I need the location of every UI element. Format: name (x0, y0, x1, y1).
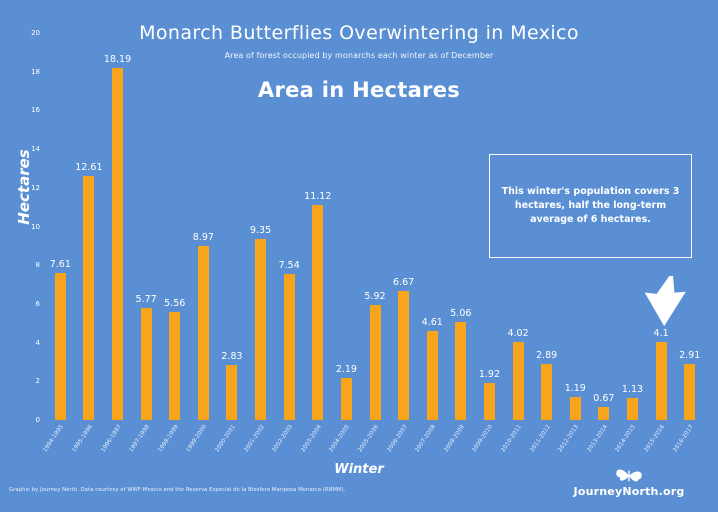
bar-value-label: 4.02 (507, 328, 528, 339)
bar-slot: 2.832000-2001 (218, 33, 247, 420)
bar-value-label: 12.61 (75, 162, 102, 173)
y-axis-tick: 20 (31, 29, 40, 37)
bar-slot: 4.612007-2008 (418, 33, 447, 420)
credit-text: Graphic by Journey North. Data courtesy … (9, 487, 345, 493)
x-axis-tick: 2010-2011 (500, 424, 523, 453)
bar-value-label: 11.12 (304, 191, 331, 202)
bar-value-label: 6.67 (393, 277, 414, 288)
bar-value-label: 1.92 (479, 369, 500, 380)
bar-slot: 11.122003-2004 (303, 33, 332, 420)
y-axis-tick: 16 (31, 106, 40, 114)
bar-value-label: 2.83 (221, 351, 242, 362)
bar[interactable]: 4.02 (513, 342, 524, 420)
x-axis-tick: 2011-2012 (529, 424, 552, 453)
y-axis-tick: 10 (31, 223, 40, 231)
x-axis-tick: 2001-2002 (243, 424, 266, 453)
bar-slot: 6.672006-2007 (389, 33, 418, 420)
brand-name: JourneyNorth.org (554, 485, 704, 498)
y-axis-tick: 14 (31, 145, 40, 153)
bar-slot: 5.062008-2009 (447, 33, 476, 420)
bar-slot: 12.611995-1996 (75, 33, 104, 420)
bar[interactable]: 6.67 (398, 291, 409, 420)
x-axis-tick: 2000-2001 (214, 424, 237, 453)
x-axis-tick: 2003-2004 (300, 424, 323, 453)
bar[interactable]: 2.89 (541, 364, 552, 420)
bar-value-label: 8.97 (193, 232, 214, 243)
bar-slot: 5.771997-1998 (132, 33, 161, 420)
x-axis-tick: 2012-2013 (558, 424, 581, 453)
bar-value-label: 2.91 (679, 350, 700, 361)
bar-value-label: 1.13 (622, 384, 643, 395)
callout-text: This winter's population covers 3 hectar… (490, 185, 691, 226)
bar-value-label: 0.67 (593, 393, 614, 404)
bar-slot: 5.922005-2006 (361, 33, 390, 420)
bar[interactable]: 5.92 (370, 305, 381, 420)
bar-value-label: 7.61 (50, 259, 71, 270)
x-axis-tick: 2002-2003 (272, 424, 295, 453)
x-axis-tick: 1995-1996 (71, 424, 94, 453)
y-axis-tick: 4 (36, 339, 40, 347)
down-right-arrow-icon (634, 276, 694, 338)
bar[interactable]: 2.19 (341, 378, 352, 420)
bar-value-label: 1.19 (565, 383, 586, 394)
bar-value-label: 7.54 (279, 260, 300, 271)
y-axis-tick: 2 (36, 377, 40, 385)
bar[interactable]: 4.1 (656, 342, 667, 420)
x-axis-tick: 1996-1997 (100, 424, 123, 453)
brand-logo[interactable]: JourneyNorth.org (554, 466, 704, 498)
bar-value-label: 2.19 (336, 364, 357, 375)
chart-canvas: Monarch Butterflies Overwintering in Mex… (0, 0, 718, 512)
x-axis-tick: 2014-2015 (615, 424, 638, 453)
x-axis-tick: 2009-2010 (472, 424, 495, 453)
x-axis-tick: 1997-1998 (129, 424, 152, 453)
bar-slot: 8.971999-2000 (189, 33, 218, 420)
bar-slot: 2.192004-2005 (332, 33, 361, 420)
butterfly-icon (554, 466, 704, 486)
bar[interactable]: 0.67 (598, 407, 609, 420)
bar[interactable]: 7.54 (284, 274, 295, 420)
y-axis-tick: 6 (36, 300, 40, 308)
bar[interactable]: 2.91 (684, 364, 695, 420)
x-axis-tick: 2016-2017 (672, 424, 695, 453)
x-axis-tick: 2013-2014 (586, 424, 609, 453)
bar-slot: 9.352001-2002 (246, 33, 275, 420)
bar-value-label: 5.92 (364, 291, 385, 302)
bar-value-label: 18.19 (104, 54, 131, 65)
bar-value-label: 9.35 (250, 225, 271, 236)
x-axis-tick: 1999-2000 (186, 424, 209, 453)
bar-value-label: 5.77 (136, 294, 157, 305)
bar[interactable]: 2.83 (226, 365, 237, 420)
bar[interactable]: 1.19 (570, 397, 581, 420)
bar-value-label: 5.06 (450, 308, 471, 319)
bar[interactable]: 18.19 (112, 68, 123, 420)
bar[interactable]: 1.92 (484, 383, 495, 420)
bar[interactable]: 8.97 (198, 246, 209, 420)
bar[interactable]: 11.12 (312, 205, 323, 420)
x-axis-tick: 2004-2005 (329, 424, 352, 453)
bar[interactable]: 1.13 (627, 398, 638, 420)
bar-slot: 5.561998-1999 (160, 33, 189, 420)
y-axis-tick: 18 (31, 68, 40, 76)
bar[interactable]: 9.35 (255, 239, 266, 420)
bar-slot: 7.542002-2003 (275, 33, 304, 420)
y-axis-tick: 8 (36, 261, 40, 269)
bar[interactable]: 5.77 (141, 308, 152, 420)
x-axis-tick: 1994-1995 (43, 424, 66, 453)
bar[interactable]: 12.61 (83, 176, 94, 420)
x-axis-tick: 2005-2006 (357, 424, 380, 453)
x-axis-tick: 2007-2008 (415, 424, 438, 453)
bar-slot: 18.191996-1997 (103, 33, 132, 420)
bar[interactable]: 7.61 (55, 273, 66, 420)
bar[interactable]: 5.56 (169, 312, 180, 420)
bar-value-label: 5.56 (164, 298, 185, 309)
callout-box: This winter's population covers 3 hectar… (489, 154, 692, 258)
y-axis-tick: 12 (31, 184, 40, 192)
bar-value-label: 2.89 (536, 350, 557, 361)
bar[interactable]: 5.06 (455, 322, 466, 420)
bar-value-label: 4.61 (422, 317, 443, 328)
x-axis-tick: 1998-1999 (157, 424, 180, 453)
bar-slot: 7.611994-1995 (46, 33, 75, 420)
x-axis-tick: 2015-2016 (644, 424, 667, 453)
x-axis-tick: 2006-2007 (386, 424, 409, 453)
x-axis-tick: 2008-2009 (443, 424, 466, 453)
bar[interactable]: 4.61 (427, 331, 438, 420)
y-axis-tick: 0 (36, 416, 40, 424)
